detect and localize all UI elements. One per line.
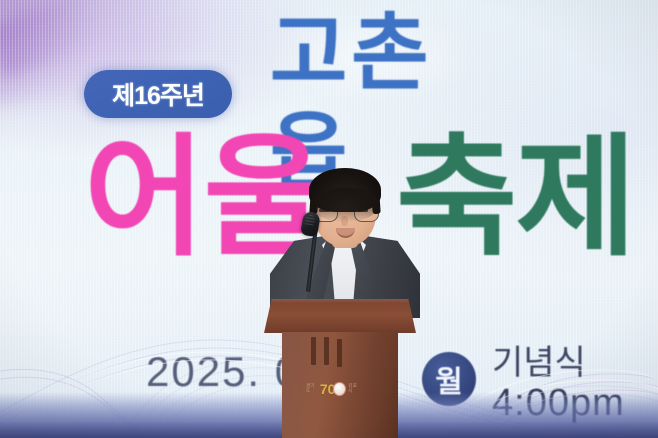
podium-top-panel [264,299,416,333]
anniversary-badge-label: 제16주년 [112,76,204,112]
speaker-figure [286,166,404,316]
hair [309,168,381,212]
festival-title-green: 축제 [396,132,635,264]
microphone-icon [300,211,321,238]
podium-emblem: 경기도 70 김포시 [306,381,360,397]
podium-slat-1 [311,337,316,365]
emblem-right-text: 김포시 [348,384,360,393]
podium: 경기도 70 김포시 [258,299,422,438]
podium-slat-2 [324,337,329,365]
podium-slat-3 [337,339,342,367]
emblem-left-text: 경기도 [306,384,318,393]
anniversary-badge: 제16주년 [84,70,232,118]
photo-stage: 제16주년 고촌읍 어울 축제 2025. 09 월 기념식 4:00pm [0,0,658,438]
emblem-circle-icon [333,382,346,396]
event-label: 기념식 [492,344,625,382]
